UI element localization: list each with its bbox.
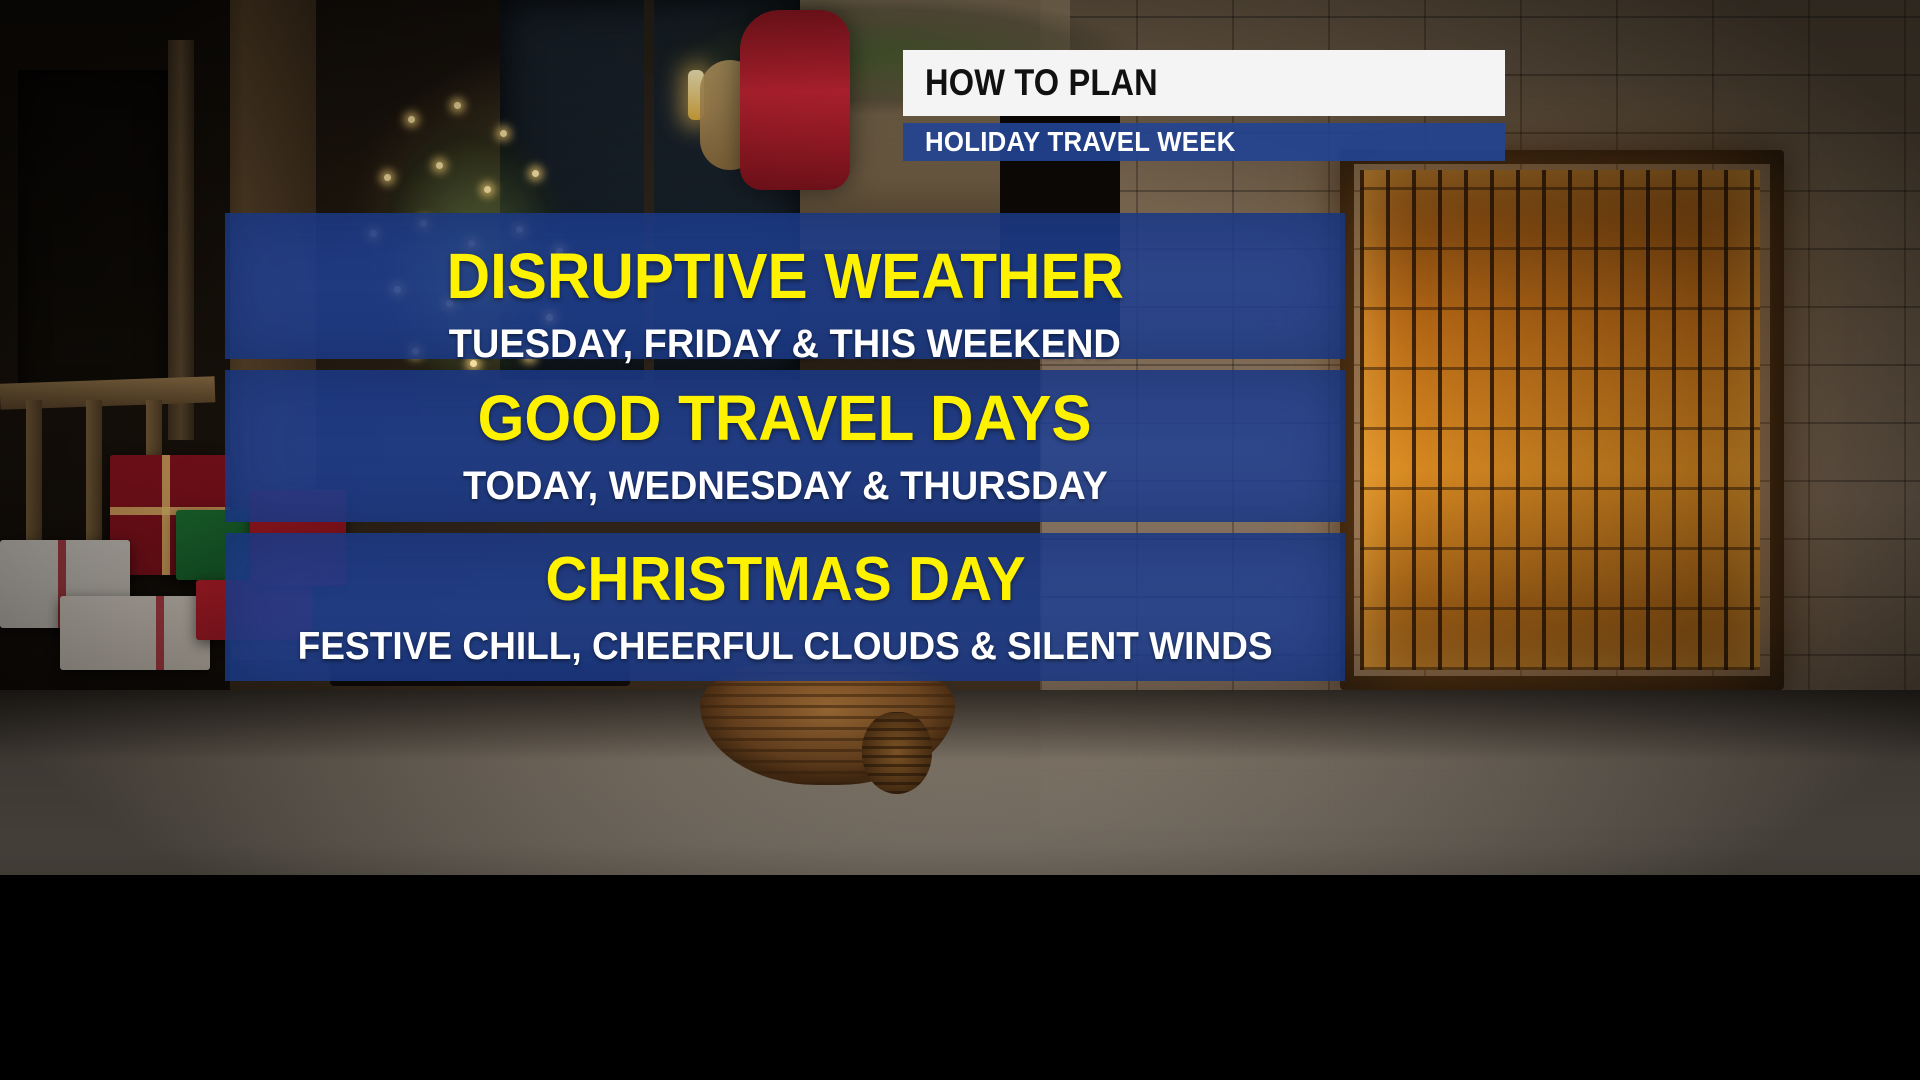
broadcast-graphic-stage: HOW TO PLAN HOLIDAY TRAVEL WEEK DISRUPTI… [0,0,1920,1080]
panel-title: CHRISTMAS DAY [545,549,1025,611]
panel-subtitle: TODAY, WEDNESDAY & THURSDAY [463,466,1108,506]
headline-bar-divider [903,116,1505,123]
forecast-panel-good-travel-days: GOOD TRAVEL DAYS TODAY, WEDNESDAY & THUR… [225,370,1345,522]
panel-title: GOOD TRAVEL DAYS [478,386,1092,450]
headline-title: HOW TO PLAN [925,62,1158,104]
headline-subtitle-bar: HOLIDAY TRAVEL WEEK [903,123,1505,161]
panel-title: DISRUPTIVE WEATHER [446,244,1123,308]
forecast-panel-christmas-day: CHRISTMAS DAY FESTIVE CHILL, CHEERFUL CL… [225,533,1345,681]
headline-subtitle: HOLIDAY TRAVEL WEEK [925,126,1236,158]
panel-divider [225,522,1345,533]
panel-subtitle: FESTIVE CHILL, CHEERFUL CLOUDS & SILENT … [298,627,1273,666]
forecast-panel-group: DISRUPTIVE WEATHER TUESDAY, FRIDAY & THI… [225,213,1345,681]
headline-title-bar: HOW TO PLAN [903,50,1505,116]
letterbox-bar-bottom [0,875,1920,1080]
panel-subtitle: TUESDAY, FRIDAY & THIS WEEKEND [449,324,1121,364]
headline-banner: HOW TO PLAN HOLIDAY TRAVEL WEEK [903,50,1505,161]
forecast-panel-disruptive-weather: DISRUPTIVE WEATHER TUESDAY, FRIDAY & THI… [225,213,1345,359]
